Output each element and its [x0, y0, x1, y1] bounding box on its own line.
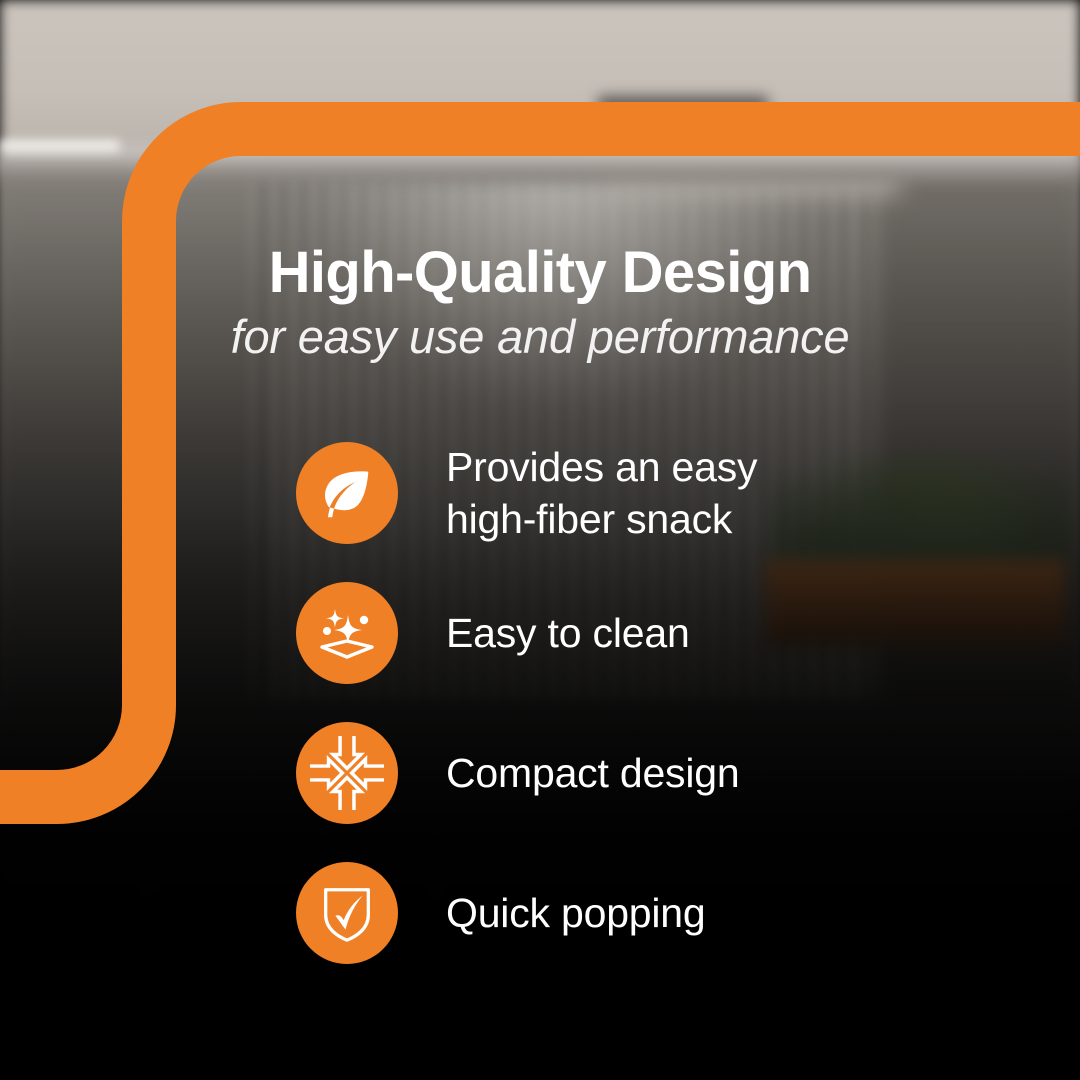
sparkle-clean-icon-badge [296, 582, 398, 684]
leaf-icon-badge [296, 442, 398, 544]
list-item: Provides an easy high-fiber snack [296, 440, 996, 546]
list-item-label: Quick popping [446, 888, 706, 938]
list-item: Compact design [296, 720, 996, 826]
list-item-label: Provides an easy high-fiber snack [446, 441, 757, 546]
page-title: High-Quality Design [0, 243, 1080, 302]
shield-check-icon [316, 882, 378, 944]
feature-list: Provides an easy high-fiber snack [296, 440, 996, 966]
compress-arrows-icon [310, 736, 384, 810]
list-item: Quick popping [296, 860, 996, 966]
list-item: Easy to clean [296, 580, 996, 686]
list-item-label: Compact design [446, 748, 739, 798]
sparkle-clean-icon [315, 601, 379, 665]
content-layer: High-Quality Design for easy use and per… [0, 0, 1080, 1080]
page-subtitle: for easy use and performance [0, 312, 1080, 363]
compress-arrows-icon-badge [296, 722, 398, 824]
list-item-label-line: Provides an easy [446, 441, 757, 493]
promo-card: High-Quality Design for easy use and per… [0, 0, 1080, 1080]
list-item-label: Easy to clean [446, 608, 690, 658]
leaf-icon [316, 462, 378, 524]
list-item-label-line: high-fiber snack [446, 493, 757, 545]
shield-check-icon-badge [296, 862, 398, 964]
